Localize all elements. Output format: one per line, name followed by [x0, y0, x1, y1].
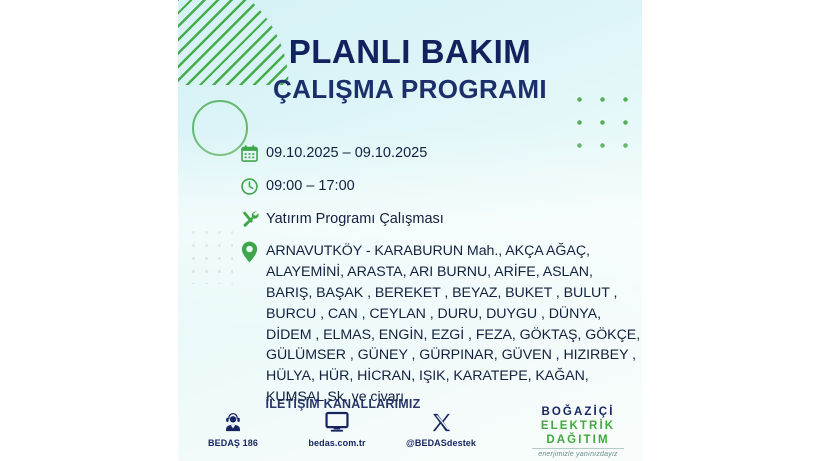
- detail-time-range: 09:00 – 17:00: [266, 175, 355, 197]
- logo-divider: [532, 448, 624, 449]
- poster-header: PLANLI BAKIM ÇALIŞMA PROGRAMI: [178, 34, 642, 105]
- dot-grid-left-decoration: [187, 226, 233, 284]
- logo-line-bogazici: BOĞAZİÇİ: [522, 405, 634, 419]
- detail-address-list: ARNAVUTKÖY - KARABURUN Mah., AKÇA AĞAÇ,A…: [266, 241, 640, 408]
- calendar-icon: [240, 142, 266, 164]
- detail-row-time: 09:00 – 17:00: [240, 175, 630, 197]
- detail-row-worktype: Yatırım Programı Çalışması: [240, 208, 630, 230]
- location-pin-icon: [240, 241, 266, 263]
- clock-icon: [240, 175, 266, 197]
- logo-line-elektrik: ELEKTRİK: [522, 419, 634, 433]
- monitor-icon: [298, 409, 376, 435]
- contact-website[interactable]: bedas.com.tr: [298, 409, 376, 448]
- address-line: DİDEM , ELMAS, ENGİN, EZGİ , FEZA, GÖKTA…: [266, 325, 640, 346]
- planned-maintenance-poster: PLANLI BAKIM ÇALIŞMA PROGRAMI: [178, 0, 642, 461]
- poster-footer: İLETİŞİM KANALLARIMIZ BEDAŞ 186: [178, 399, 642, 461]
- call-center-agent-icon: [194, 409, 272, 435]
- contact-website-label: bedas.com.tr: [298, 438, 376, 448]
- tools-icon: [240, 208, 266, 230]
- address-line: ARNAVUTKÖY - KARABURUN Mah., AKÇA AĞAÇ,: [266, 241, 640, 262]
- contact-phone-label: BEDAŞ 186: [194, 438, 272, 448]
- address-line: ALAYEMİNİ, ARASTA, ARI BURNU, ARİFE, ASL…: [266, 262, 640, 283]
- contact-channels: BEDAŞ 186 bedas.com.tr: [194, 409, 480, 448]
- detail-date-range: 09.10.2025 – 09.10.2025: [266, 142, 427, 164]
- detail-row-date: 09.10.2025 – 09.10.2025: [240, 142, 630, 164]
- contact-x-label: @BEDASdestek: [402, 438, 480, 448]
- x-twitter-icon: [402, 409, 480, 435]
- address-line: GÜLÜMSER , GÜNEY , GÜRPINAR, GÜVEN , HIZ…: [266, 345, 640, 366]
- contact-x-account[interactable]: @BEDASdestek: [402, 409, 480, 448]
- logo-tagline: enerjimizle yanınızdayız: [522, 451, 634, 458]
- maintenance-details: 09.10.2025 – 09.10.2025 09:00 – 17:00: [240, 142, 630, 408]
- screenshot-canvas: PLANLI BAKIM ÇALIŞMA PROGRAMI: [0, 0, 820, 461]
- logo-line-dagitim: DAĞITIM: [522, 433, 634, 447]
- page-subtitle: ÇALIŞMA PROGRAMI: [178, 74, 642, 105]
- address-line: HÜLYA, HÜR, HİCRAN, IŞIK, KARATEPE, KAĞA…: [266, 366, 640, 387]
- detail-row-address: ARNAVUTKÖY - KARABURUN Mah., AKÇA AĞAÇ,A…: [240, 241, 630, 408]
- address-line: BURCU , CAN , CEYLAN , DURU, DUYGU , DÜN…: [266, 304, 640, 325]
- contact-phone[interactable]: BEDAŞ 186: [194, 409, 272, 448]
- bedas-logo: BOĞAZİÇİ ELEKTRİK DAĞITIM enerjimizle ya…: [522, 405, 634, 458]
- address-line: BARIŞ, BAŞAK , BEREKET , BEYAZ, BUKET , …: [266, 283, 640, 304]
- detail-work-type: Yatırım Programı Çalışması: [266, 208, 444, 230]
- page-title: PLANLI BAKIM: [178, 34, 642, 70]
